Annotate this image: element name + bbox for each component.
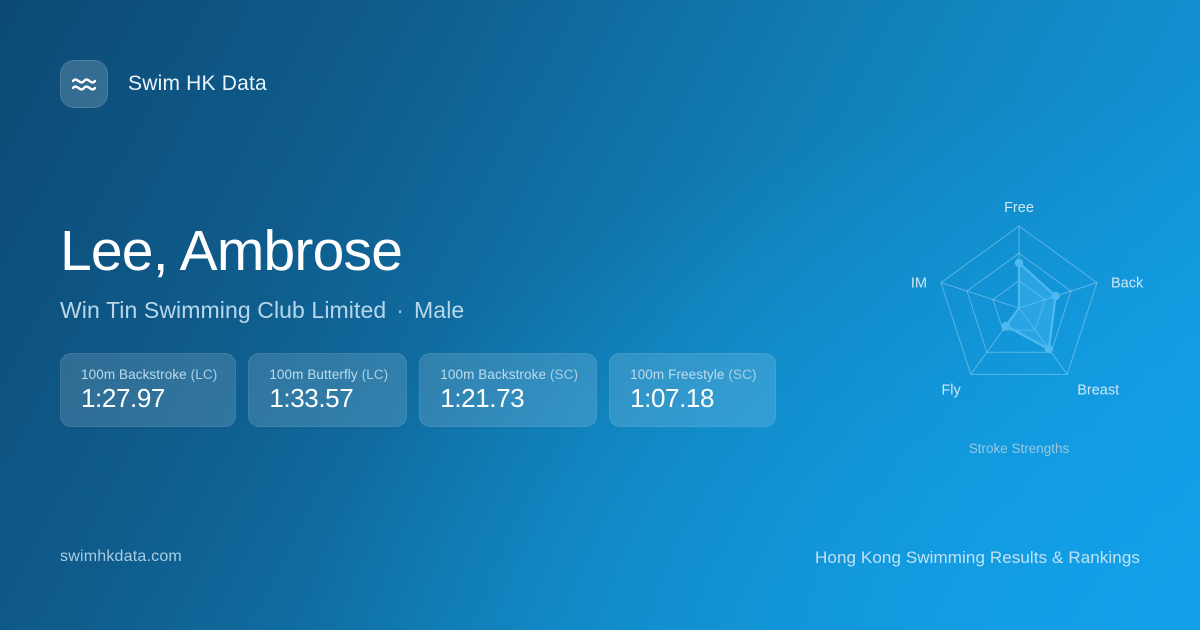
stroke-strengths-radar-chart: FreeBackBreastFlyIM Stroke Strengths [860,165,1180,475]
brand-name: Swim HK Data [128,72,267,96]
radar-axis-label-im: IM [911,276,927,292]
radar-data-point [1045,345,1053,353]
stat-card[interactable]: 100m Backstroke (LC) 1:27.97 [60,353,236,427]
stat-label: 100m Backstroke (SC) [440,367,578,382]
wave-icon [60,60,108,108]
stat-course: (SC) [728,367,756,382]
footer-tagline: Hong Kong Swimming Results & Rankings [815,548,1140,568]
radar-axis-label-breast: Breast [1077,382,1119,398]
best-times-list: 100m Backstroke (LC) 1:27.97 100m Butter… [60,353,776,427]
page-title: Lee, Ambrose [60,222,402,282]
stat-course: (LC) [191,367,218,382]
radar-axis-label-free: Free [1004,200,1034,216]
radar-caption: Stroke Strengths [969,441,1070,456]
stat-label: 100m Freestyle (SC) [630,367,756,382]
athlete-meta: Win Tin Swimming Club Limited·Male [60,297,464,324]
radar-axis-label-fly: Fly [941,382,961,398]
stat-course: (SC) [550,367,578,382]
athlete-club: Win Tin Swimming Club Limited [60,297,386,323]
radar-data-point [1002,322,1010,330]
stat-event: 100m Freestyle [630,367,724,382]
stat-value: 1:33.57 [269,385,388,412]
brand[interactable]: Swim HK Data [60,60,267,108]
stat-label: 100m Butterfly (LC) [269,367,388,382]
stat-card[interactable]: 100m Butterfly (LC) 1:33.57 [248,353,407,427]
stat-card[interactable]: 100m Backstroke (SC) 1:21.73 [419,353,597,427]
stat-event: 100m Backstroke [440,367,546,382]
radar-data-point [1015,259,1023,267]
stat-course: (LC) [362,367,389,382]
share-card: Swim HK Data Lee, Ambrose Win Tin Swimmi… [0,0,1200,630]
meta-separator: · [386,297,414,323]
stat-value: 1:21.73 [440,385,578,412]
stat-event: 100m Backstroke [81,367,187,382]
stat-event: 100m Butterfly [269,367,357,382]
radar-axis-label-back: Back [1111,276,1144,292]
stat-label: 100m Backstroke (LC) [81,367,217,382]
stat-card[interactable]: 100m Freestyle (SC) 1:07.18 [609,353,775,427]
footer-site[interactable]: swimhkdata.com [60,548,182,566]
stat-value: 1:07.18 [630,385,756,412]
athlete-gender: Male [414,297,464,323]
radar-data-point [1051,292,1059,300]
stat-value: 1:27.97 [81,385,217,412]
radar-axis-line [941,283,1019,308]
